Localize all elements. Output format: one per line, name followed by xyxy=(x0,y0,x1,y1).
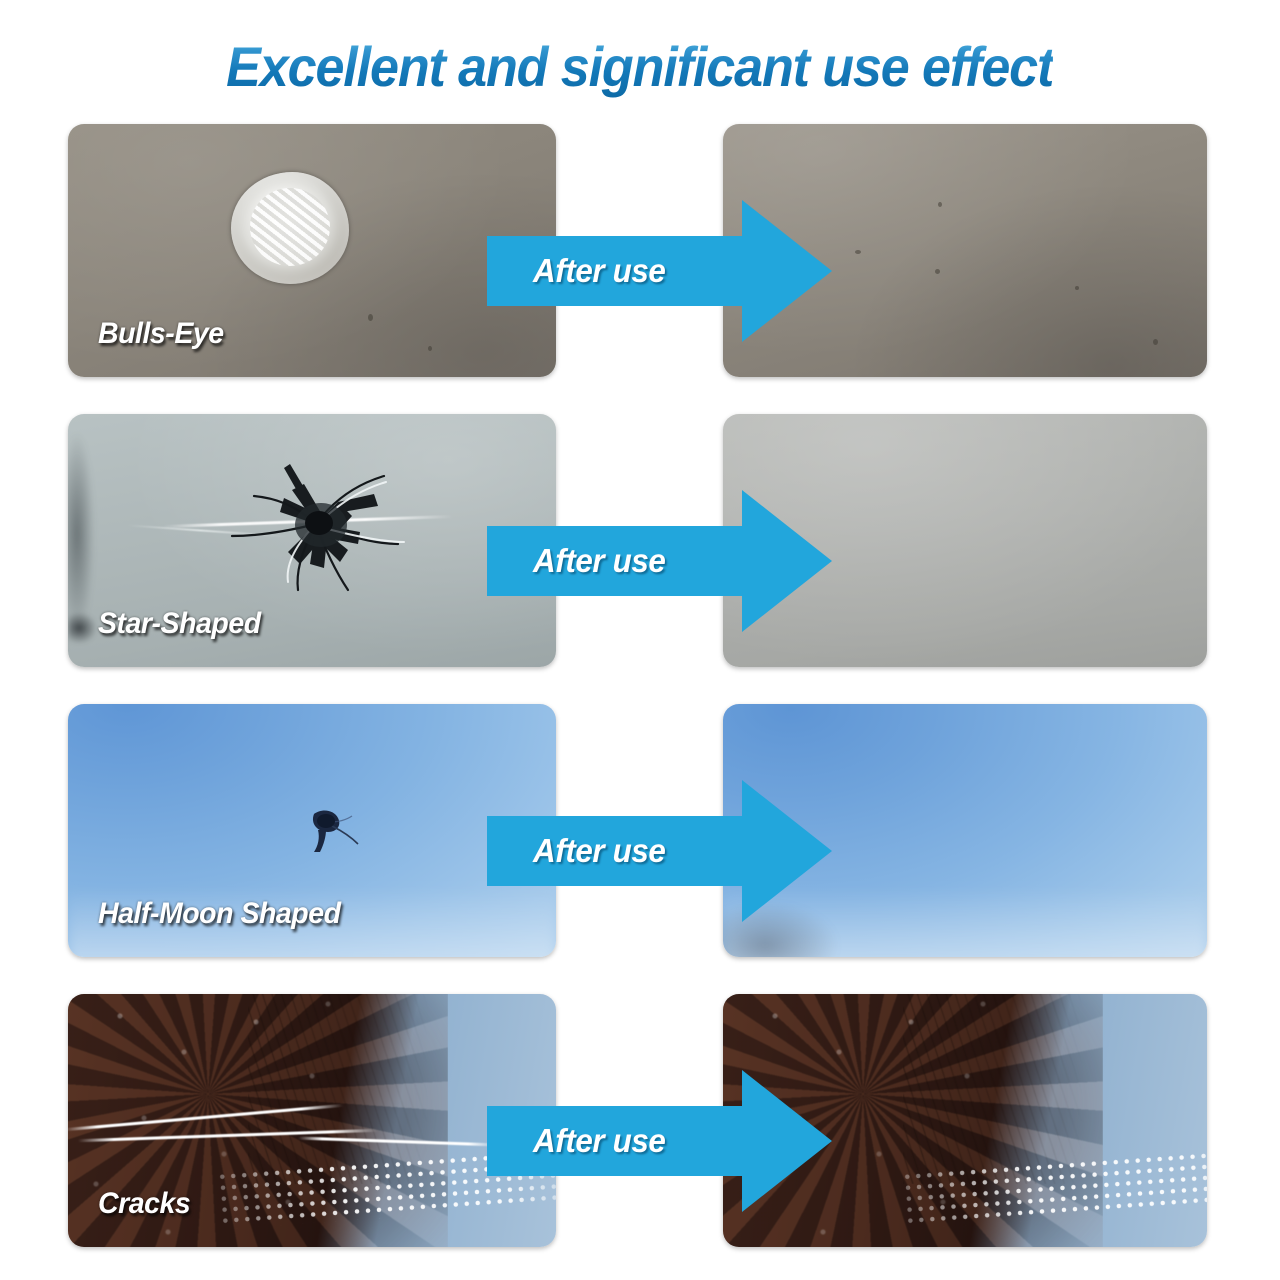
comparison-rows: Bulls-Eye After use xyxy=(0,116,1280,1276)
before-image-bulls-eye: Bulls-Eye xyxy=(68,124,556,377)
row-caption: Star-Shaped xyxy=(98,607,261,641)
comparison-row-star-shaped: Star-Shaped After use xyxy=(0,406,1280,696)
before-image-cracks: Cracks xyxy=(68,994,556,1247)
page-title-container: Excellent and significant use effect xyxy=(0,34,1280,99)
surface-speck xyxy=(855,250,861,254)
foliage-branches xyxy=(248,994,428,1184)
after-use-arrow: After use xyxy=(487,1070,832,1212)
after-use-arrow: After use xyxy=(487,490,832,632)
row-caption: Bulls-Eye xyxy=(98,317,224,351)
surface-speck xyxy=(935,269,940,274)
foliage-branches xyxy=(903,994,1083,1184)
comparison-row-cracks: Cracks After use xyxy=(0,986,1280,1276)
surface-speck xyxy=(368,314,373,321)
arrow-label: After use xyxy=(533,832,665,870)
edge-smudge xyxy=(68,434,94,634)
surface-speck xyxy=(1153,339,1158,345)
edge-smudge xyxy=(68,613,96,643)
arrow-label: After use xyxy=(533,1122,665,1160)
after-use-arrow: After use xyxy=(487,200,832,342)
row-caption: Half-Moon Shaped xyxy=(98,897,341,931)
surface-speck xyxy=(1075,286,1079,290)
bulls-eye-chip-icon xyxy=(231,172,349,284)
half-moon-chip-icon xyxy=(296,804,366,860)
arrow-label: After use xyxy=(533,542,665,580)
before-image-star-shaped: Star-Shaped xyxy=(68,414,556,667)
before-image-half-moon: Half-Moon Shaped xyxy=(68,704,556,957)
after-use-arrow: After use xyxy=(487,780,832,922)
arrow-label: After use xyxy=(533,252,665,290)
star-crack-icon xyxy=(188,432,448,622)
row-caption: Cracks xyxy=(98,1187,190,1221)
page-title: Excellent and significant use effect xyxy=(226,34,1053,99)
surface-speck xyxy=(938,202,942,207)
comparison-row-half-moon: Half-Moon Shaped After use xyxy=(0,696,1280,986)
surface-speck xyxy=(428,346,432,351)
comparison-row-bulls-eye: Bulls-Eye After use xyxy=(0,116,1280,406)
